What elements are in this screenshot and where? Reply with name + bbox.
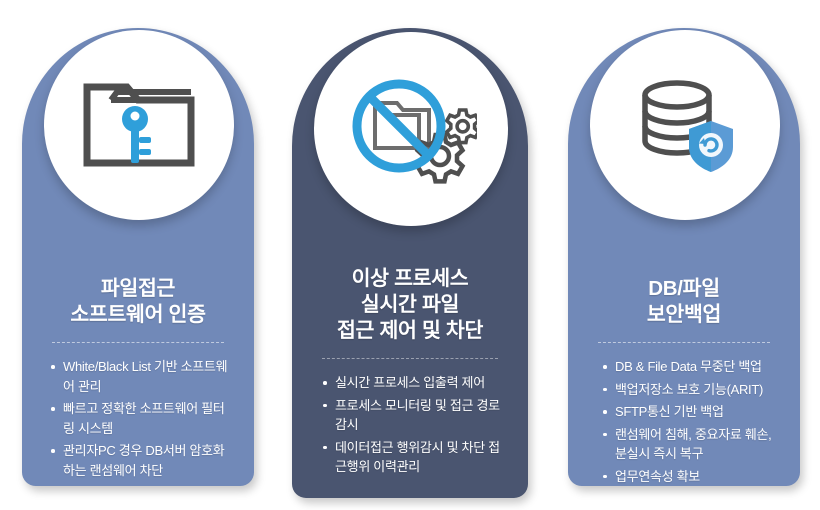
panel-db-file-backup-icon-circle [590, 30, 780, 220]
panel-file-access-body: 파일접근 소프트웨어 인증 White/Black List 기반 소프트웨어 … [22, 276, 254, 483]
panel-abnormal-process-icon-circle [314, 32, 508, 226]
title-line: 소프트웨어 인증 [38, 302, 238, 328]
list-item: SFTP통신 기반 백업 [602, 402, 780, 422]
list-item: White/Black List 기반 소프트웨어 관리 [50, 357, 234, 396]
database-shield-icon [619, 69, 751, 181]
list-item: 업무연속성 확보 [602, 467, 780, 487]
panel-file-access-icon-circle [44, 30, 234, 220]
list-item: 데이터접근 행위감시 및 차단 접근행위 이력관리 [322, 438, 508, 477]
panel-db-file-backup-body: DB/파일 보안백업 DB & File Data 무중단 백업 백업저장소 보… [568, 276, 800, 486]
title-line: 파일접근 [38, 276, 238, 302]
list-item: 백업저장소 보호 기능(ARIT) [602, 380, 780, 400]
no-process-gears-icon [345, 73, 477, 185]
list-item: 실시간 프로세스 입출력 제어 [322, 373, 508, 393]
infographic-board: 파일접근 소프트웨어 인증 White/Black List 기반 소프트웨어 … [0, 0, 820, 510]
title-line: 이상 프로세스 [308, 266, 512, 292]
panel-db-file-backup-bullets: DB & File Data 무중단 백업 백업저장소 보호 기능(ARIT) … [584, 357, 784, 486]
panel-abnormal-process-body: 이상 프로세스 실시간 파일 접근 제어 및 차단 실시간 프로세스 입출력 제… [292, 266, 528, 480]
title-line: 접근 제어 및 차단 [308, 318, 512, 344]
folder-key-icon [73, 69, 205, 181]
title-line: DB/파일 [584, 276, 784, 302]
divider [52, 342, 224, 343]
list-item: 관리자PC 경우 DB서버 암호화하는 랜섬웨어 차단 [50, 441, 234, 480]
list-item: 랜섬웨어 침해, 중요자료 훼손, 분실시 즉시 복구 [602, 425, 780, 464]
divider [598, 342, 770, 343]
divider [322, 358, 498, 359]
panel-db-file-backup-title: DB/파일 보안백업 [584, 276, 784, 328]
panel-file-access-title: 파일접근 소프트웨어 인증 [38, 276, 238, 328]
title-line: 보안백업 [584, 302, 784, 328]
panel-abnormal-process-bullets: 실시간 프로세스 입출력 제어 프로세스 모니터링 및 접근 경로 감시 데이터… [308, 373, 512, 477]
panel-file-access-bullets: White/Black List 기반 소프트웨어 관리 빠르고 정확한 소프트… [38, 357, 238, 480]
list-item: 빠르고 정확한 소프트웨어 필터링 시스템 [50, 399, 234, 438]
title-line: 실시간 파일 [308, 292, 512, 318]
list-item: DB & File Data 무중단 백업 [602, 357, 780, 377]
panel-abnormal-process-title: 이상 프로세스 실시간 파일 접근 제어 및 차단 [308, 266, 512, 344]
list-item: 프로세스 모니터링 및 접근 경로 감시 [322, 396, 508, 435]
